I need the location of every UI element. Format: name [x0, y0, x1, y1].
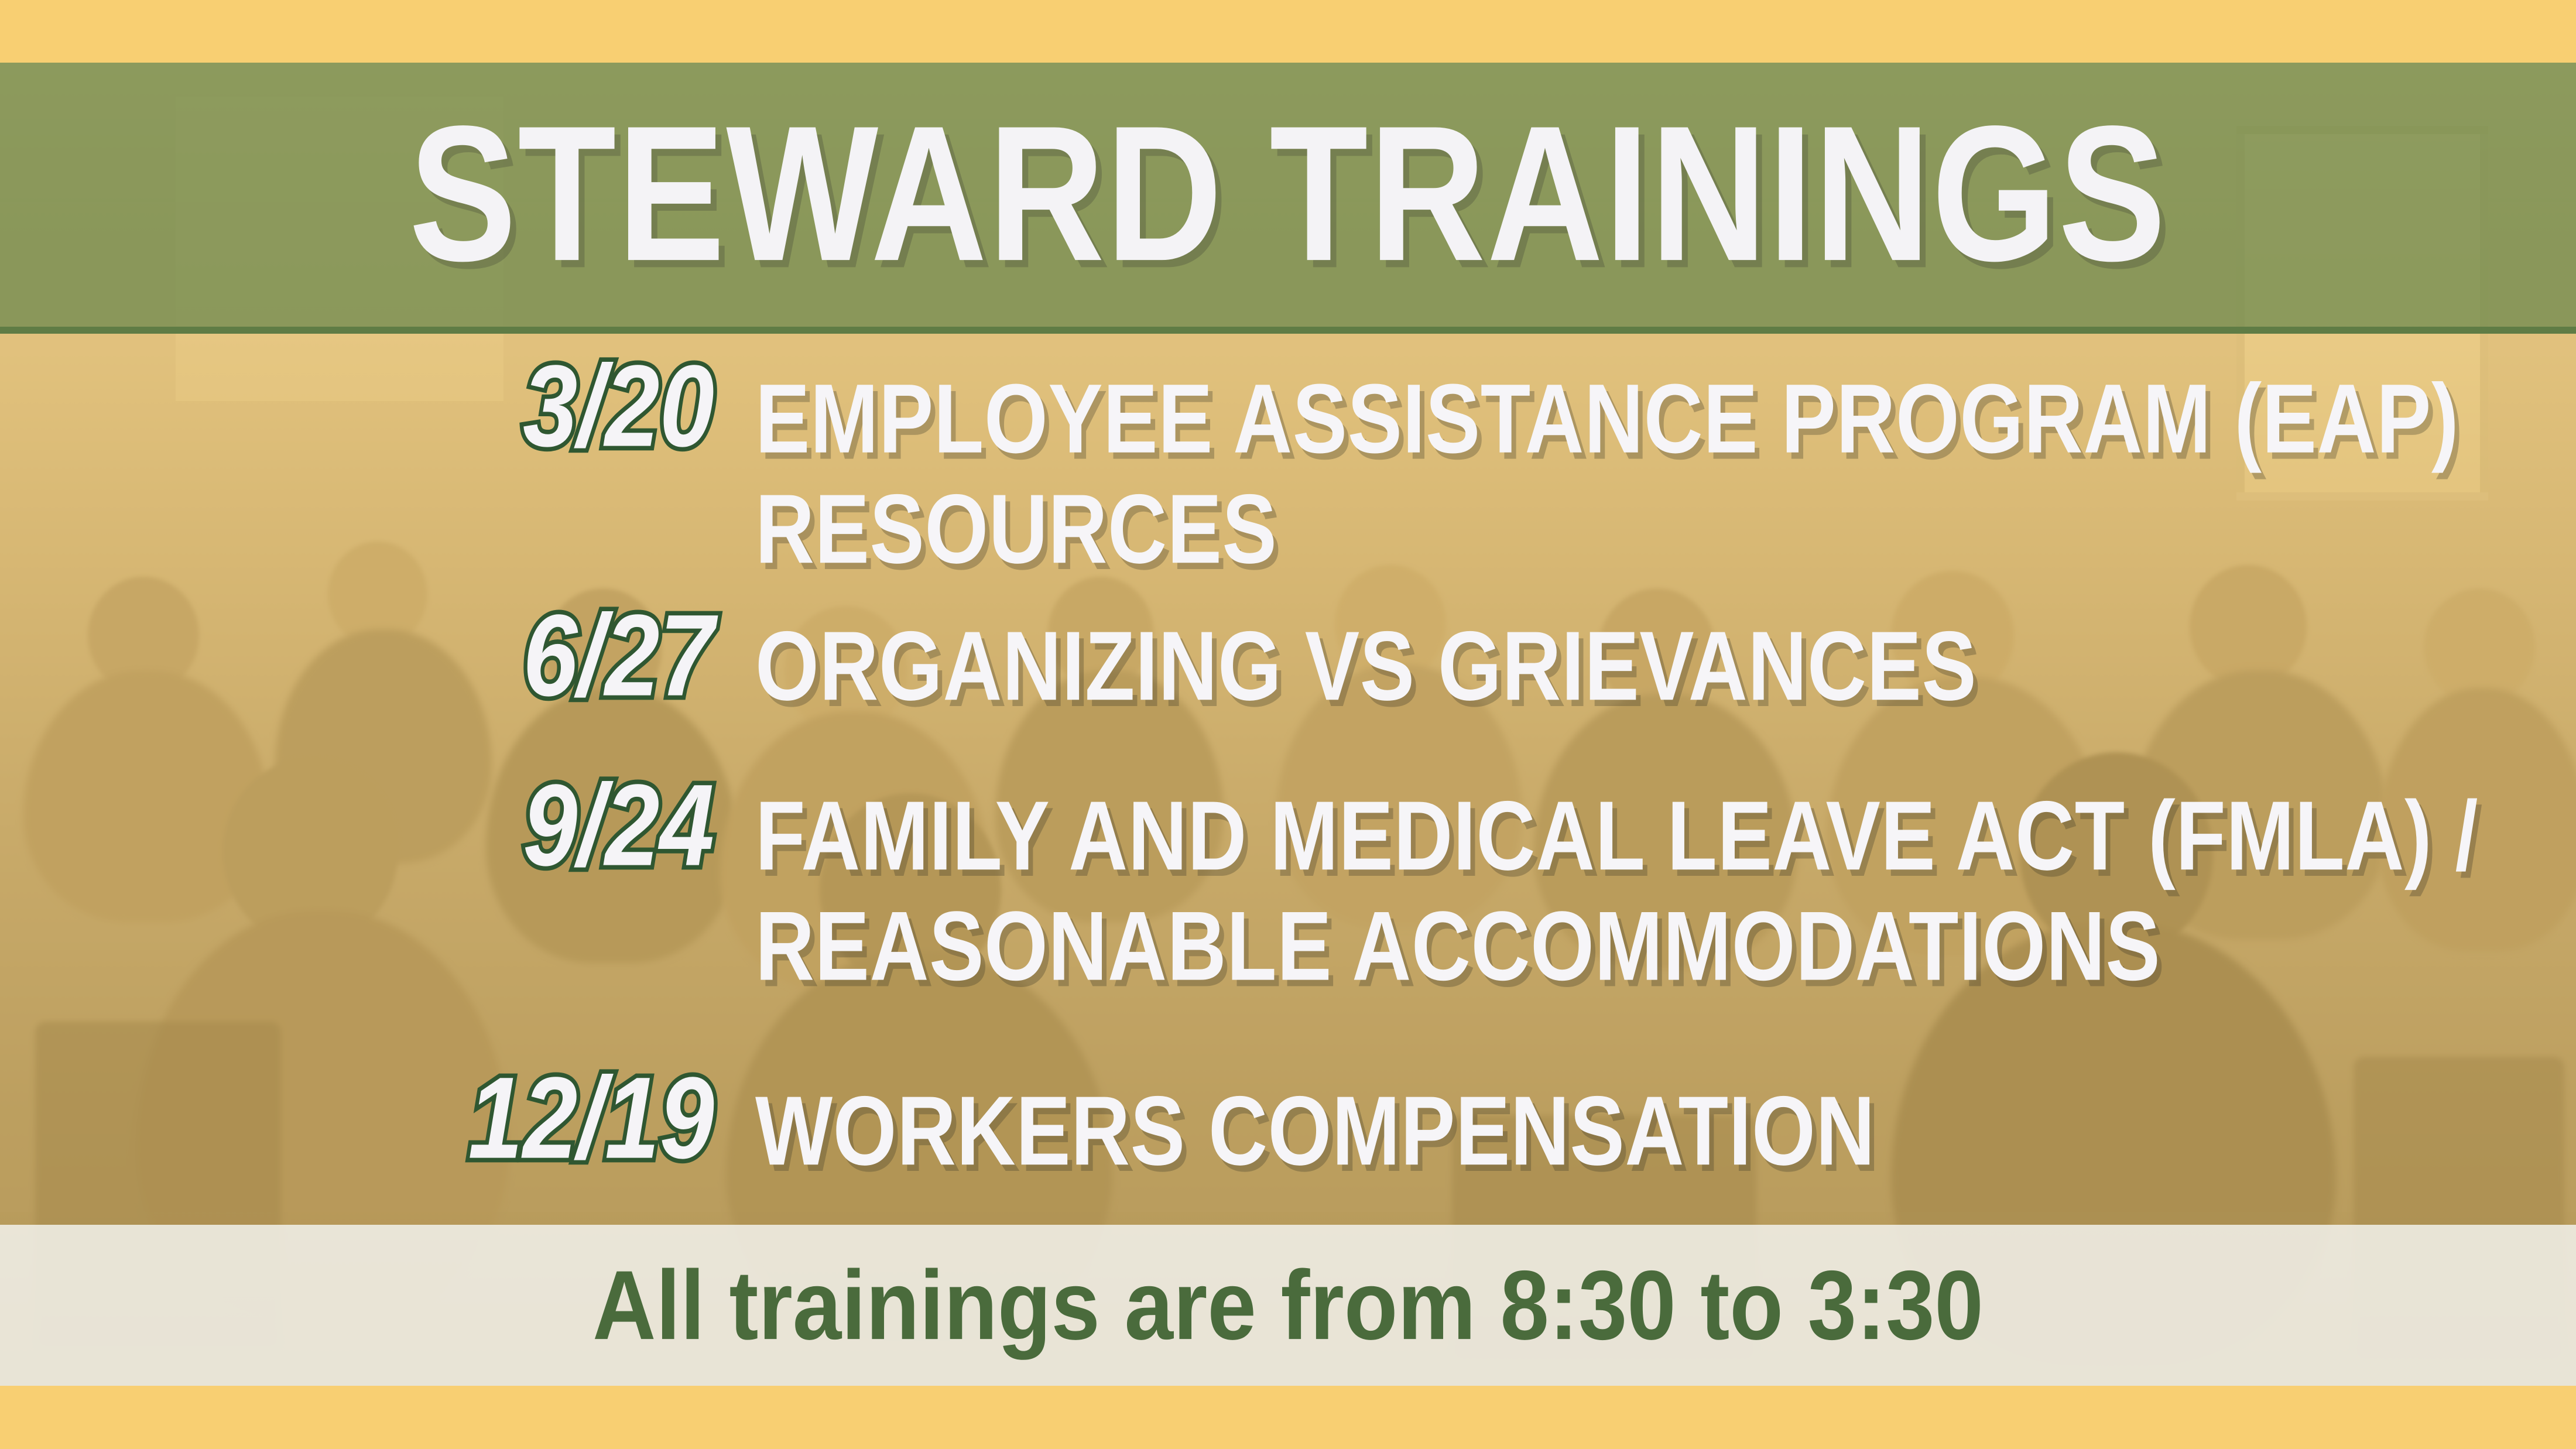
training-date: 9/24	[0, 762, 755, 886]
training-date: 12/19	[0, 1057, 755, 1178]
page-title: STEWARD TRAININGS	[409, 100, 2167, 289]
training-date: 6/27	[0, 592, 755, 715]
training-topic: EMPLOYEE ASSISTANCE PROGRAM (EAP) RESOUR…	[755, 351, 2576, 584]
training-topic: FAMILY AND MEDICAL LEAVE ACT (FMLA) / RE…	[755, 781, 2576, 1001]
footer-banner: All trainings are from 8:30 to 3:30	[0, 1225, 2576, 1386]
steward-trainings-poster: STEWARD TRAININGS 3/20 EMPLOYEE ASSISTAN…	[0, 0, 2576, 1449]
training-topic: WORKERS COMPENSATION	[755, 1076, 2576, 1186]
bottom-frame-bar	[0, 1386, 2576, 1449]
training-hours-note: All trainings are from 8:30 to 3:30	[592, 1249, 1984, 1362]
training-schedule-list: 3/20 EMPLOYEE ASSISTANCE PROGRAM (EAP) R…	[0, 351, 2576, 1184]
top-frame-bar	[0, 0, 2576, 63]
schedule-row: 12/19 WORKERS COMPENSATION	[0, 1076, 2576, 1179]
schedule-row: 3/20 EMPLOYEE ASSISTANCE PROGRAM (EAP) R…	[0, 351, 2576, 546]
training-topic: ORGANIZING VS GRIEVANCES	[755, 611, 2576, 721]
schedule-row: 9/24 FAMILY AND MEDICAL LEAVE ACT (FMLA)…	[0, 781, 2576, 965]
title-banner: STEWARD TRAININGS	[0, 63, 2576, 334]
schedule-row: 6/27 ORGANIZING VS GRIEVANCES	[0, 611, 2576, 716]
training-date: 3/20	[0, 331, 755, 467]
